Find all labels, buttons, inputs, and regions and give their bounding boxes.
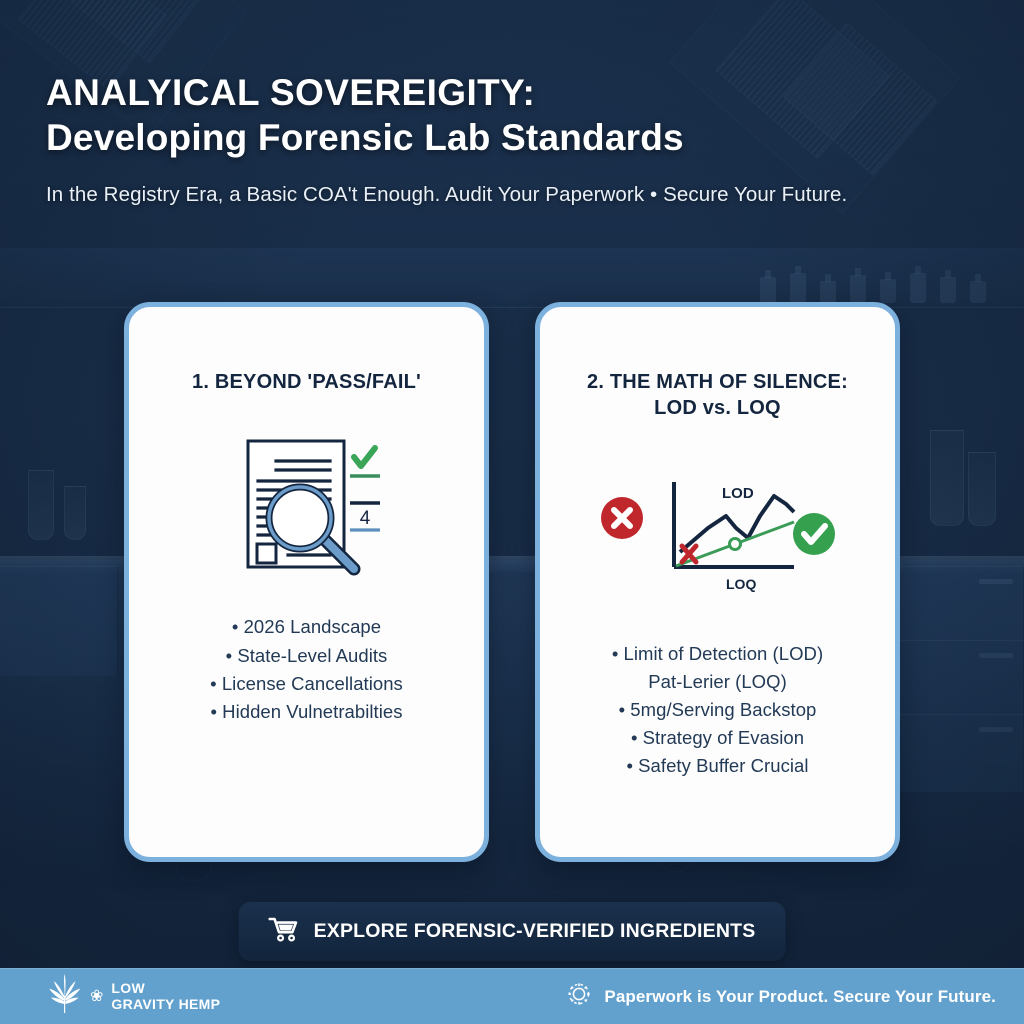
brand-line-1: LOW [111,981,220,997]
asterisk-icon: ❀ [90,989,103,1005]
page-title-line-2: Developing Forensic Lab Standards [46,115,978,160]
lod-loq-chart-icon: LOD LOQ [598,456,838,606]
card-2-title-line-2: LOD vs. LOQ [654,397,781,419]
header: ANALYICAL SOVEREIGITY: Developing Forens… [0,0,1024,207]
page-subtitle: In the Registry Era, a Basic COA't Enoug… [46,183,978,207]
card-2-title: 2. THE MATH OF SILENCE: LOD vs. LOQ [587,369,848,422]
card-math-of-silence[interactable]: 2. THE MATH OF SILENCE: LOD vs. LOQ [535,302,900,862]
cards-row: 1. BEYOND 'PASS/FAIL' [124,302,900,862]
brand-name: LOW GRAVITY HEMP [111,981,220,1013]
accept-badge-icon [793,513,835,555]
card-1-bullet-list: • 2026 Landscape • State-Level Audits • … [153,613,460,725]
card-2-bullet-list: • Limit of Detection (LOD) Pat-Lerier (L… [564,640,871,781]
list-item: • Strategy of Evasion [564,724,871,752]
card-2-title-line-1: 2. THE MATH OF SILENCE: [587,371,848,393]
cannabis-leaf-icon [44,973,84,1020]
footer-bar: ❀ LOW GRAVITY HEMP Paperwork is Your Pro… [0,968,1024,1024]
cta-label: EXPLORE FORENSIC-VERIFIED INGREDIENTS [314,920,756,943]
list-item: • State-Level Audits [153,642,460,670]
list-item: • 2026 Landscape [153,613,460,641]
shopping-cart-icon [269,916,299,947]
chart-label-loq: LOQ [726,576,756,592]
page-title-line-1: ANALYICAL SOVEREIGITY: [46,72,978,113]
list-item: • Safety Buffer Crucial [564,752,871,780]
list-item: • 5mg/Serving Backstop [564,696,871,724]
list-item: • Hidden Vulnetrabilties [153,698,460,726]
brand-logo[interactable]: ❀ LOW GRAVITY HEMP [44,973,220,1020]
brand-line-2: GRAVITY HEMP [111,997,220,1013]
list-item: • Limit of Detection (LOD) [564,640,871,668]
footer-tagline: Paperwork is Your Product. Secure Your F… [604,987,996,1007]
footer-tagline-group: Paperwork is Your Product. Secure Your F… [566,981,996,1012]
list-item: • License Cancellations [153,670,460,698]
list-item: Pat-Lerier (LOQ) [564,668,871,696]
card-beyond-pass-fail[interactable]: 1. BEYOND 'PASS/FAIL' [124,302,489,862]
document-magnifier-icon: 4 [232,429,382,579]
card-1-title: 1. BEYOND 'PASS/FAIL' [192,369,421,395]
score-value: 4 [359,508,370,529]
infographic-canvas: ANALYICAL SOVEREIGITY: Developing Forens… [0,0,1024,1024]
chart-label-lod: LOD [722,485,754,502]
gear-flower-icon [566,981,592,1012]
cta-button[interactable]: EXPLORE FORENSIC-VERIFIED INGREDIENTS [239,902,786,961]
